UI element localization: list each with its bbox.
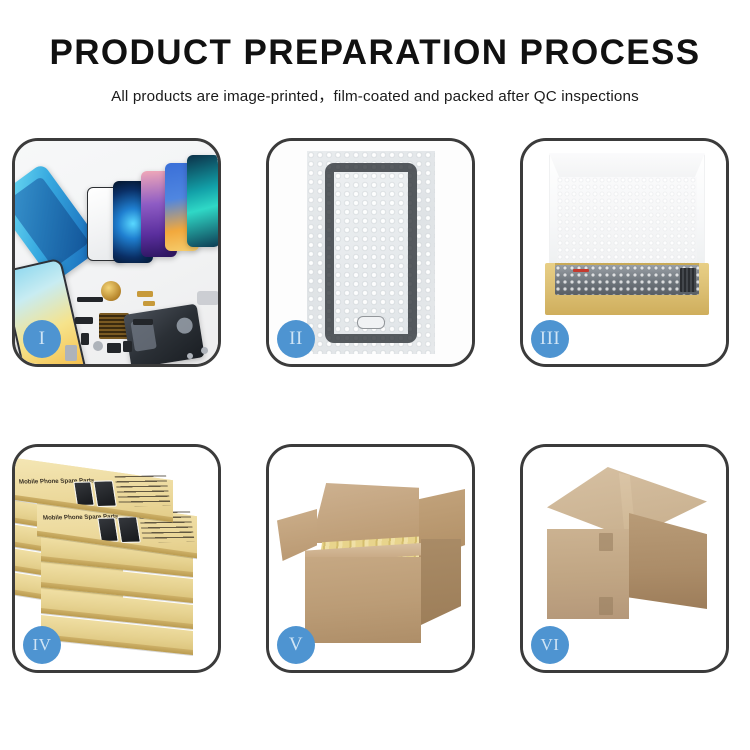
small-component-part xyxy=(123,341,132,352)
page-title: PRODUCT PREPARATION PROCESS xyxy=(0,34,750,73)
flex-cable-part xyxy=(77,297,103,302)
page-header: PRODUCT PREPARATION PROCESS All products… xyxy=(0,0,750,106)
box-lid-fold xyxy=(549,153,705,179)
sim-tray-part xyxy=(65,345,77,361)
step-badge-4: IV xyxy=(23,626,61,664)
small-component-part xyxy=(75,317,93,324)
box-spec-lines xyxy=(115,475,171,506)
screw-part xyxy=(93,341,103,351)
step-badge-2: II xyxy=(277,320,315,358)
box-product-image xyxy=(73,481,95,506)
box-product-image xyxy=(93,480,117,507)
step-badge-5: V xyxy=(277,626,315,664)
teal-swirl-phone xyxy=(187,155,218,247)
screw-part xyxy=(201,347,208,354)
process-step-panel-1: I xyxy=(12,138,221,367)
carton-front-face xyxy=(305,557,421,643)
screw-part xyxy=(187,353,193,359)
gold-contact-part xyxy=(143,301,155,306)
process-step-panel-3: III xyxy=(520,138,729,367)
gold-contact-part xyxy=(137,291,153,297)
small-component-part xyxy=(81,333,89,345)
small-component-part xyxy=(107,343,121,353)
step-badge-3: III xyxy=(531,320,569,358)
wrapped-screen-assembly xyxy=(325,163,417,343)
carton-flap-tab xyxy=(599,597,613,615)
process-step-panel-2: II xyxy=(266,138,475,367)
speaker-module-part xyxy=(101,281,121,301)
step-badge-6: VI xyxy=(531,626,569,664)
red-label-strip xyxy=(573,269,589,272)
home-button xyxy=(357,316,385,329)
page-subtitle: All products are image-printed，film-coat… xyxy=(0,84,750,106)
process-step-grid: I II III xyxy=(12,138,738,673)
step-badge-1: I xyxy=(23,320,61,358)
tweezers-tool xyxy=(197,291,218,305)
box-product-image xyxy=(97,517,119,542)
process-step-panel-4: Mobile Phone Spare Parts Mobile Phone Sp… xyxy=(12,444,221,673)
carton-flap-back xyxy=(311,483,419,543)
carton-front-face xyxy=(547,529,629,619)
carton-flap-tab xyxy=(599,533,613,551)
packed-screen-assembly xyxy=(555,265,699,295)
process-step-panel-5: V xyxy=(266,444,475,673)
flex-cable-part xyxy=(133,319,153,325)
foam-padding xyxy=(557,177,697,263)
box-product-image xyxy=(117,516,141,543)
process-step-panel-6: VI xyxy=(520,444,729,673)
